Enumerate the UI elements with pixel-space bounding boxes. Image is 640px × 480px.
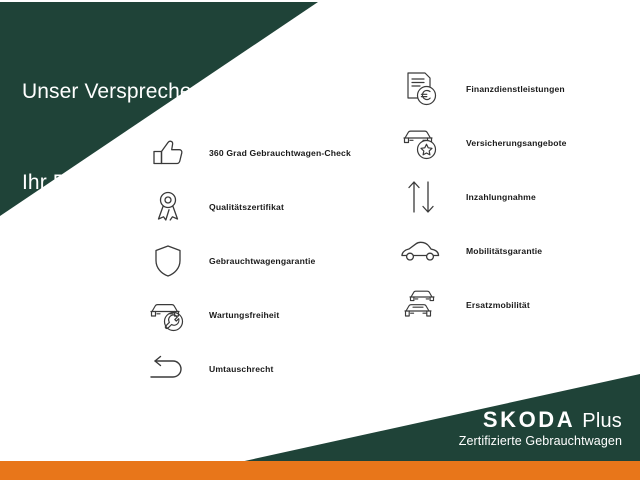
feature-item-used-car-warranty: Gebrauchtwagengarantie: [145, 234, 351, 288]
brand-primary-line: SKODA Plus: [459, 409, 622, 431]
brand-tagline: Zertifizierte Gebrauchtwagen: [459, 434, 622, 448]
feature-label: 360 Grad Gebrauchtwagen-Check: [209, 148, 351, 158]
feature-label: Mobilitätsgarantie: [466, 246, 542, 256]
shield-icon: [145, 238, 191, 284]
plus-wordmark: Plus: [582, 411, 622, 431]
headline-line-1: Unser Versprechen.: [22, 77, 209, 107]
feature-label: Umtauschrecht: [209, 364, 274, 374]
feature-label: Inzahlungnahme: [466, 192, 536, 202]
award-rosette-icon: [145, 184, 191, 230]
feature-label: Ersatzmobilität: [466, 300, 530, 310]
thumbs-up-icon: [145, 130, 191, 176]
return-arrow-icon: [145, 346, 191, 392]
car-star-icon: [398, 120, 444, 166]
feature-item-mobility-guarantee: Mobilitätsgarantie: [398, 224, 567, 278]
feature-item-trade-in: Inzahlungnahme: [398, 170, 567, 224]
document-euro-icon: [398, 66, 444, 112]
feature-item-maintenance-free: Wartungsfreiheit: [145, 288, 351, 342]
feature-list-right: Finanzdienstleistungen Versicherungsange…: [398, 62, 567, 332]
feature-item-insurance-offers: Versicherungsangebote: [398, 116, 567, 170]
feature-item-return-right: Umtauschrecht: [145, 342, 351, 396]
car-wrench-icon: [145, 292, 191, 338]
brand-lockup: SKODA Plus Zertifizierte Gebrauchtwagen: [459, 409, 622, 448]
feature-item-360-check: 360 Grad Gebrauchtwagen-Check: [145, 126, 351, 180]
orange-bottom-bar: [0, 461, 640, 480]
feature-label: Wartungsfreiheit: [209, 310, 279, 320]
feature-item-replacement-mobility: Ersatzmobilität: [398, 278, 567, 332]
promo-banner: Unser Versprechen. Ihr Plus. 360 Grad Ge…: [0, 0, 640, 480]
skoda-wordmark: SKODA: [483, 409, 575, 431]
up-down-arrows-icon: [398, 174, 444, 220]
feature-label: Qualitätszertifikat: [209, 202, 284, 212]
two-cars-icon: [398, 282, 444, 328]
feature-label: Gebrauchtwagengarantie: [209, 256, 315, 266]
feature-label: Finanzdienstleistungen: [466, 84, 565, 94]
feature-label: Versicherungsangebote: [466, 138, 567, 148]
feature-item-quality-certificate: Qualitätszertifikat: [145, 180, 351, 234]
feature-item-financial-services: Finanzdienstleistungen: [398, 62, 567, 116]
feature-list-left: 360 Grad Gebrauchtwagen-Check Qualitätsz…: [145, 126, 351, 396]
car-side-icon: [398, 228, 444, 274]
